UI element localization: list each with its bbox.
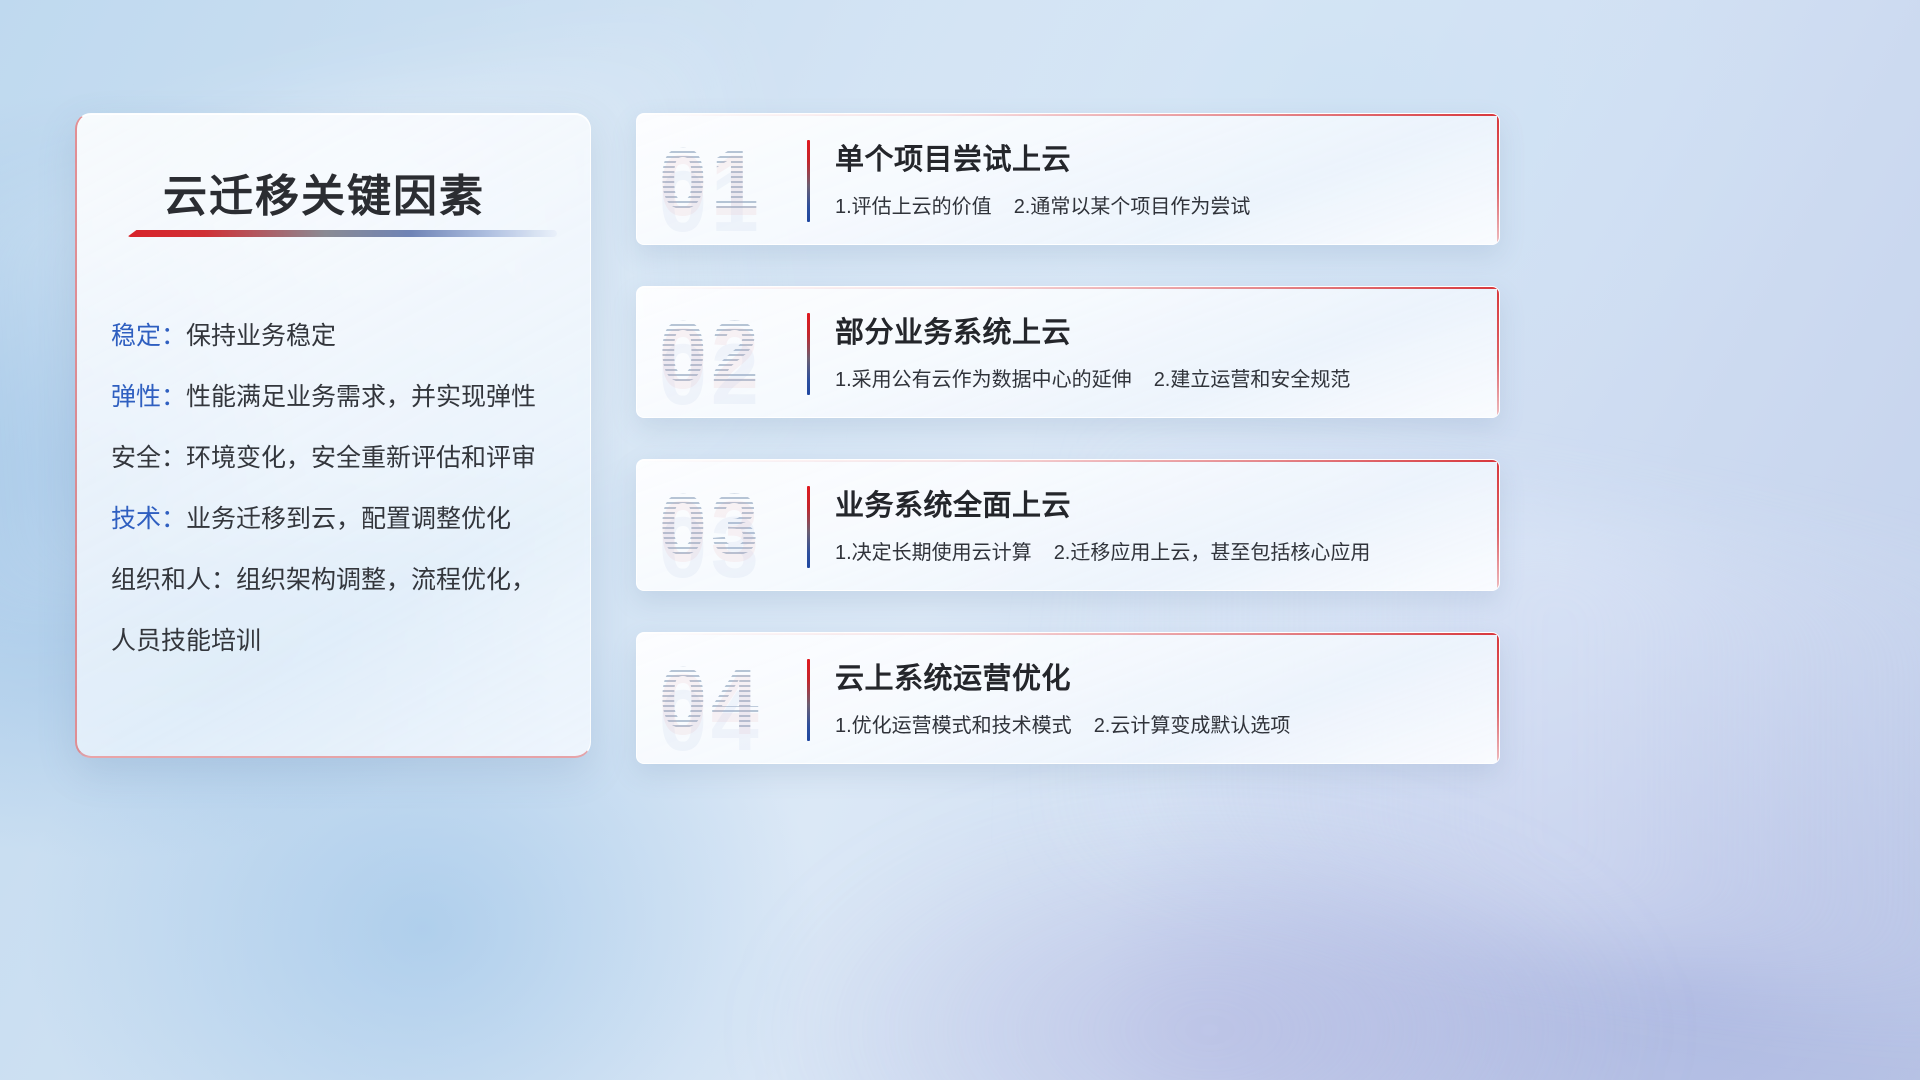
migration-steps-column: 01 单个项目尝试上云 1.评估上云的价值2.通常以某个项目作为尝试 02 部分… xyxy=(636,113,1500,805)
step-point-2: 2.云计算变成默认选项 xyxy=(1094,715,1291,737)
list-item: 稳定：保持业务稳定 xyxy=(111,306,568,367)
list-item-text: 人员技能培训 xyxy=(111,627,261,655)
step-accent-bar xyxy=(807,313,810,395)
step-card[interactable]: 04 云上系统运营优化 1.优化运营模式和技术模式2.云计算变成默认选项 xyxy=(636,632,1500,764)
step-subtitle: 1.决定长期使用云计算2.迁移应用上云，甚至包括核心应用 xyxy=(835,536,1370,565)
list-item-label: 稳定： xyxy=(111,322,186,350)
step-point-2: 2.通常以某个项目作为尝试 xyxy=(1014,196,1251,218)
step-title: 业务系统全面上云 xyxy=(835,482,1071,524)
step-accent-bar xyxy=(807,659,810,741)
list-item-text: 环境变化，安全重新评估和评审 xyxy=(186,444,536,472)
step-subtitle: 1.优化运营模式和技术模式2.云计算变成默认选项 xyxy=(835,709,1290,738)
step-accent-bar xyxy=(807,486,810,568)
step-accent-bar xyxy=(807,140,810,222)
step-card[interactable]: 01 单个项目尝试上云 1.评估上云的价值2.通常以某个项目作为尝试 xyxy=(636,113,1500,245)
title-underline-accent xyxy=(127,230,557,237)
step-point-2: 2.迁移应用上云，甚至包括核心应用 xyxy=(1054,542,1371,564)
key-factors-panel: 云迁移关键因素 稳定：保持业务稳定 弹性：性能满足业务需求，并实现弹性 安全：环… xyxy=(75,113,591,758)
step-number-watermark: 04 xyxy=(659,655,763,741)
step-point-1: 1.决定长期使用云计算 xyxy=(835,542,1032,564)
list-item-text: 性能满足业务需求，并实现弹性 xyxy=(186,383,536,411)
list-item: 技术：业务迁移到云，配置调整优化 xyxy=(111,489,568,550)
step-number-watermark: 01 xyxy=(659,136,763,222)
list-item: 人员技能培训 xyxy=(111,611,568,672)
step-number-watermark: 03 xyxy=(659,482,763,568)
step-point-2: 2.建立运营和安全规范 xyxy=(1154,369,1351,391)
step-number-watermark: 02 xyxy=(659,309,763,395)
slide-root: 云迁移关键因素 稳定：保持业务稳定 弹性：性能满足业务需求，并实现弹性 安全：环… xyxy=(0,0,1920,1080)
list-item-label: 技术： xyxy=(111,505,186,533)
list-item-label: 安全： xyxy=(111,444,186,472)
list-item: 弹性：性能满足业务需求，并实现弹性 xyxy=(111,367,568,428)
list-item-text: 组织架构调整，流程优化， xyxy=(236,566,536,594)
list-item-text: 业务迁移到云，配置调整优化 xyxy=(186,505,511,533)
step-title: 部分业务系统上云 xyxy=(835,309,1071,351)
step-card[interactable]: 02 部分业务系统上云 1.采用公有云作为数据中心的延伸2.建立运营和安全规范 xyxy=(636,286,1500,418)
step-subtitle: 1.评估上云的价值2.通常以某个项目作为尝试 xyxy=(835,190,1250,219)
list-item: 安全：环境变化，安全重新评估和评审 xyxy=(111,428,568,489)
list-item: 组织和人：组织架构调整，流程优化， xyxy=(111,550,568,611)
background-glow-bottom xyxy=(760,800,1660,1080)
step-title: 云上系统运营优化 xyxy=(835,655,1071,697)
step-point-1: 1.优化运营模式和技术模式 xyxy=(835,715,1072,737)
step-title: 单个项目尝试上云 xyxy=(835,136,1071,178)
list-item-label: 弹性： xyxy=(111,383,186,411)
panel-title: 云迁移关键因素 xyxy=(163,160,485,224)
step-card[interactable]: 03 业务系统全面上云 1.决定长期使用云计算2.迁移应用上云，甚至包括核心应用 xyxy=(636,459,1500,591)
list-item-text: 保持业务稳定 xyxy=(186,322,336,350)
step-subtitle: 1.采用公有云作为数据中心的延伸2.建立运营和安全规范 xyxy=(835,363,1350,392)
key-factors-list: 稳定：保持业务稳定 弹性：性能满足业务需求，并实现弹性 安全：环境变化，安全重新… xyxy=(111,306,568,672)
step-point-1: 1.评估上云的价值 xyxy=(835,196,992,218)
step-point-1: 1.采用公有云作为数据中心的延伸 xyxy=(835,369,1132,391)
list-item-label: 组织和人： xyxy=(111,566,236,594)
